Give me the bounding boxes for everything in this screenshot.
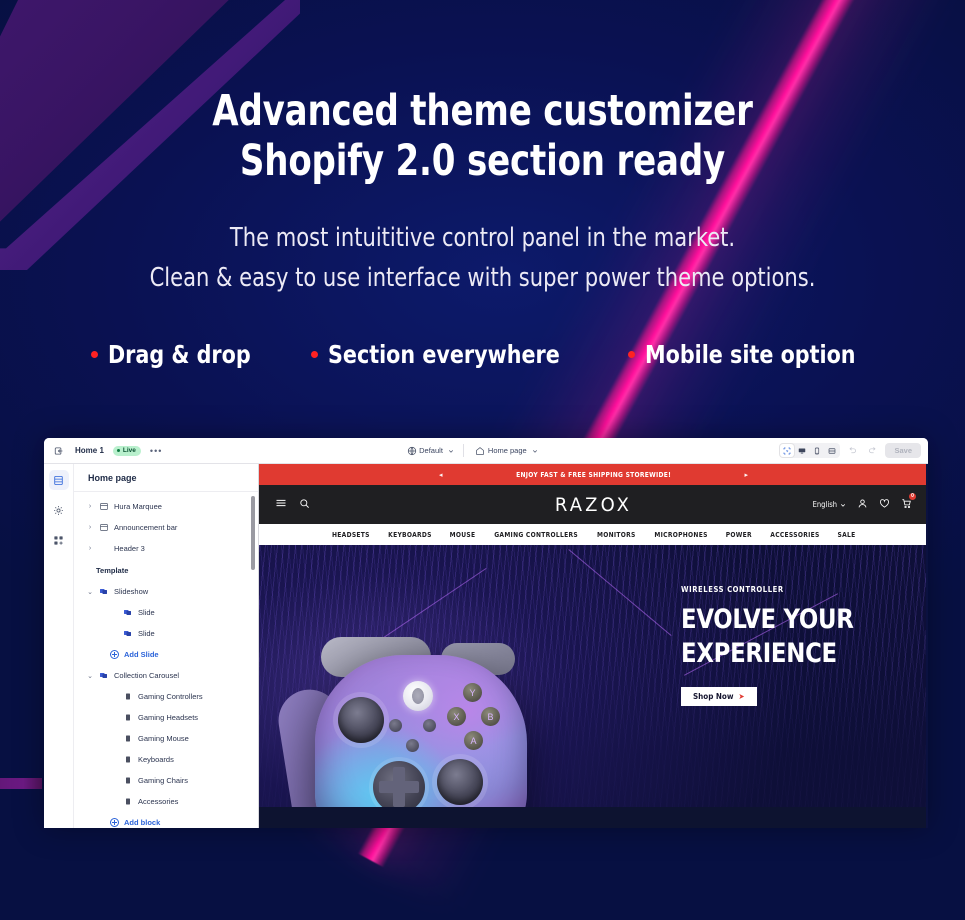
mobile-view-icon[interactable]	[810, 444, 824, 457]
scroll-up-arrow-icon[interactable]: ▲	[250, 492, 256, 494]
nav-item[interactable]: ACCESSORIES	[770, 531, 819, 539]
sections-icon[interactable]	[49, 470, 69, 490]
announcement-prev-icon[interactable]: ◂	[439, 471, 443, 479]
bullet-dot-icon	[628, 351, 635, 358]
page-title: Advanced theme customizer Shopify 2.0 se…	[58, 86, 907, 186]
feature-label: Drag & drop	[108, 340, 251, 369]
tree-row-label: Slide	[138, 629, 155, 638]
hero-title-line-2: Shopify 2.0 section ready	[58, 136, 907, 186]
tree-row[interactable]: Slide	[74, 602, 258, 623]
page-selector-value: Home page	[488, 446, 527, 455]
feature-item-drag-drop: Drag & drop	[91, 340, 263, 369]
add-block-button[interactable]: Add block	[74, 812, 258, 828]
hero-subtitle: The most intuititive control panel in th…	[48, 218, 917, 298]
add-block-label: Add Slide	[124, 650, 159, 659]
language-selector[interactable]: English	[813, 500, 846, 509]
cart-count-badge: 0	[909, 493, 916, 500]
tree-row[interactable]: Keyboards	[74, 749, 258, 770]
game-controller-image: Y X B A	[281, 621, 571, 807]
store-header: RAZOX English	[259, 485, 928, 524]
controller-stick-right	[437, 759, 483, 805]
arrow-right-icon: ➤	[739, 692, 745, 701]
nav-item[interactable]: KEYBOARDS	[388, 531, 432, 539]
tree-scrollbar[interactable]	[251, 496, 255, 570]
nav-item[interactable]: HEADSETS	[332, 531, 370, 539]
tree-row[interactable]: Slide	[74, 623, 258, 644]
tree-row-label: Collection Carousel	[114, 671, 179, 680]
theme-selector-value: Default	[419, 446, 443, 455]
tree-row-label: Gaming Mouse	[138, 734, 189, 743]
hero-title-line-1: Advanced theme customizer	[212, 86, 752, 136]
tree-row-label: Gaming Chairs	[138, 776, 188, 785]
editor-body: Home page ▲ ›Hura Marquee›Announcement b…	[44, 464, 928, 828]
controller-share-button	[406, 739, 419, 752]
globe-icon	[404, 443, 419, 458]
preview-right-edge	[926, 464, 928, 828]
banner-title: EVOLVE YOUR EXPERIENCE	[681, 603, 883, 671]
shop-now-label: Shop Now	[693, 692, 734, 701]
tree-row[interactable]: Gaming Chairs	[74, 770, 258, 791]
more-options-icon[interactable]: •••	[150, 448, 162, 454]
view-mode-toggle-group	[779, 443, 840, 458]
bullet-dot-icon	[91, 351, 98, 358]
feature-item-mobile-site: Mobile site option	[628, 340, 874, 369]
announcement-text: ENJOY FAST & FREE SHIPPING STOREWIDE!	[516, 471, 671, 479]
block-icon	[123, 713, 133, 722]
hero-section: Advanced theme customizer Shopify 2.0 se…	[0, 0, 965, 298]
fullwidth-view-icon[interactable]	[825, 444, 839, 457]
desktop-view-icon[interactable]	[795, 444, 809, 457]
nav-item[interactable]: SALE	[837, 531, 855, 539]
tree-row-label: Accessories	[138, 797, 178, 806]
promo-banner: Advanced theme customizer Shopify 2.0 se…	[0, 0, 965, 920]
tree-row[interactable]: Gaming Mouse	[74, 728, 258, 749]
storefront-preview: ◂ ENJOY FAST & FREE SHIPPING STOREWIDE! …	[259, 464, 928, 828]
tree-panel-title: Home page	[74, 464, 258, 492]
feature-item-section-everywhere: Section everywhere	[311, 340, 580, 369]
tree-spacer	[99, 544, 109, 553]
undo-icon[interactable]	[845, 443, 860, 458]
status-badge-live: Live	[113, 446, 141, 456]
tree-row-label: Header 3	[114, 544, 145, 553]
controller-button-b: B	[481, 707, 500, 726]
plus-circle-icon	[110, 818, 119, 827]
tree-row-label: Gaming Headsets	[138, 713, 198, 722]
controller-button-a: A	[464, 731, 483, 750]
storefront-hero-banner: Y X B A WIRELESS CONTROLLER EVOLVE YOUR …	[259, 545, 928, 807]
chevron-right-icon[interactable]: ›	[86, 503, 94, 510]
tree-row[interactable]: ›Announcement bar	[74, 517, 258, 538]
live-dot-icon	[117, 449, 120, 452]
editor-topbar: Home 1 Live ••• Default	[44, 438, 928, 464]
controller-dpad	[373, 761, 425, 807]
tree-row-label: Slide	[138, 608, 155, 617]
shop-now-button[interactable]: Shop Now ➤	[681, 687, 757, 706]
editor-sidebar-rail	[44, 464, 74, 828]
live-label: Live	[123, 447, 136, 454]
theme-selector[interactable]: Default	[419, 446, 454, 455]
nav-item[interactable]: POWER	[726, 531, 752, 539]
purple-band-decoration	[0, 778, 42, 789]
tree-row-label: Slideshow	[114, 587, 148, 596]
section-icon	[99, 523, 109, 532]
tree-row-label: Hura Marquee	[114, 502, 162, 511]
cart-icon[interactable]: 0	[901, 496, 912, 514]
banner-title-line-2: EXPERIENCE	[681, 637, 883, 671]
home-icon	[473, 443, 488, 458]
tree-group-heading: Template	[74, 559, 258, 581]
chevron-down-icon	[840, 502, 846, 508]
tree-row-label: Keyboards	[138, 755, 174, 764]
block-icon	[123, 755, 133, 764]
nav-item[interactable]: MONITORS	[597, 531, 636, 539]
controller-button-x: X	[447, 707, 466, 726]
chevron-down-icon[interactable]: ⌄	[86, 672, 94, 680]
settings-gear-icon[interactable]	[49, 500, 69, 520]
sections-tree-panel: Home page ▲ ›Hura Marquee›Announcement b…	[74, 464, 259, 828]
feature-list: Drag & drop Section everywhere Mobile si…	[0, 340, 965, 369]
exit-icon[interactable]	[51, 443, 66, 458]
hero-subtitle-line-2: Clean & easy to use interface with super…	[48, 258, 917, 298]
toolbar-divider	[463, 444, 464, 457]
block-icon	[123, 776, 133, 785]
chevron-down-icon	[532, 448, 538, 454]
controller-button-y: Y	[463, 683, 482, 702]
tree-row[interactable]: ⌄Slideshow	[74, 581, 258, 602]
add-block-label: Add block	[124, 818, 160, 827]
tree-row[interactable]: Gaming Headsets	[74, 707, 258, 728]
chevron-down-icon	[448, 448, 454, 454]
account-icon[interactable]	[857, 496, 868, 514]
store-navigation: HEADSETSKEYBOARDSMOUSEGAMING CONTROLLERS…	[259, 524, 928, 545]
banner-title-line-1: EVOLVE YOUR	[681, 603, 883, 637]
feature-label: Section everywhere	[328, 340, 560, 369]
block-icon	[123, 797, 133, 806]
tree-row[interactable]: ›Header 3	[74, 538, 258, 559]
nav-item[interactable]: MOUSE	[450, 531, 476, 539]
redo-icon[interactable]	[865, 443, 880, 458]
chevron-down-icon[interactable]: ⌄	[86, 588, 94, 596]
hero-subtitle-line-1: The most intuititive control panel in th…	[48, 218, 917, 258]
select-tool-icon[interactable]	[780, 444, 794, 457]
section-icon	[99, 502, 109, 511]
chevron-right-icon[interactable]: ›	[86, 524, 94, 531]
tree-row-label: Gaming Controllers	[138, 692, 203, 701]
language-value: English	[813, 500, 837, 509]
banner-copy: WIRELESS CONTROLLER EVOLVE YOUR EXPERIEN…	[681, 585, 896, 706]
block-icon	[123, 608, 133, 617]
feature-label: Mobile site option	[645, 340, 856, 369]
block-icon	[123, 629, 133, 638]
tree-row[interactable]: ›Hura Marquee	[74, 496, 258, 517]
controller-view-button	[389, 719, 402, 732]
tree-group-label: Template	[96, 566, 128, 575]
block-icon	[123, 734, 133, 743]
tree-row[interactable]: Gaming Controllers	[74, 686, 258, 707]
wishlist-heart-icon[interactable]	[879, 496, 890, 514]
announcement-next-icon[interactable]: ▸	[744, 471, 748, 479]
shopify-theme-editor-window: Home 1 Live ••• Default	[44, 438, 928, 828]
section-icon	[99, 587, 109, 596]
tree-row-label: Announcement bar	[114, 523, 177, 532]
bullet-dot-icon	[311, 351, 318, 358]
tree-scroll-area[interactable]: ▲ ›Hura Marquee›Announcement bar›Header …	[74, 492, 258, 828]
plus-circle-icon	[110, 650, 119, 659]
page-selector[interactable]: Home page	[488, 446, 538, 455]
section-icon	[99, 671, 109, 680]
save-button[interactable]: Save	[885, 443, 921, 458]
apps-grid-icon[interactable]	[49, 530, 69, 550]
nav-item[interactable]: GAMING CONTROLLERS	[494, 531, 578, 539]
tree-row[interactable]: ⌄Collection Carousel	[74, 665, 258, 686]
chevron-right-icon[interactable]: ›	[86, 545, 94, 552]
nav-item[interactable]: MICROPHONES	[654, 531, 707, 539]
controller-guide-button	[403, 681, 433, 711]
controller-stick-left	[338, 697, 384, 743]
controller-menu-button	[423, 719, 436, 732]
editor-page-name: Home 1	[75, 446, 104, 455]
announcement-bar: ◂ ENJOY FAST & FREE SHIPPING STOREWIDE! …	[259, 464, 928, 485]
banner-kicker: WIRELESS CONTROLLER	[681, 585, 885, 594]
tree-row[interactable]: Accessories	[74, 791, 258, 812]
block-icon	[123, 692, 133, 701]
add-block-button[interactable]: Add Slide	[74, 644, 258, 665]
